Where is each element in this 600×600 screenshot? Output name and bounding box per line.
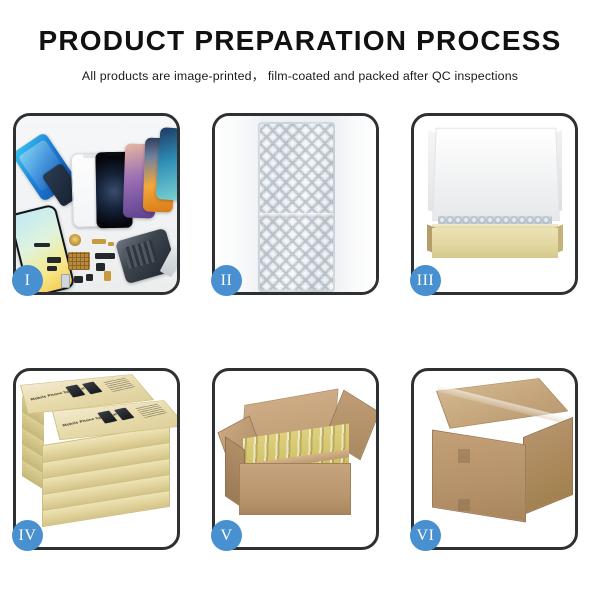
spare-part-flex-cable-2 [108,242,114,246]
page-title: PRODUCT PREPARATION PROCESS [0,26,600,57]
box-print-screen-2 [82,382,103,395]
step-badge-4: IV [12,520,43,551]
step-2-image [215,116,376,292]
box-print-text-block-back [102,377,135,392]
box-print-text-block-front [134,403,167,418]
step-5-image [215,371,376,547]
process-step-1-phones-and-parts: I [13,113,180,295]
spare-part-bracket-2 [47,266,57,271]
spare-part-bracket-1 [47,257,61,263]
step-badge-2: II [211,265,242,296]
step-4-image: Mobile Phone Spare Parts Mobile Phone Sp… [16,371,177,547]
spare-part-sim-tray [61,274,70,288]
spare-part-taptic-engine [86,274,93,281]
sealed-carton-right-face [523,417,573,515]
carton-hand-hole-upper [458,449,470,463]
kraft-box-front-face [432,228,558,258]
carton-front-face [239,463,351,515]
step-badge-1: I [12,265,43,296]
process-step-6-sealed-carton: VI [411,368,578,550]
bubble-wrap-seam [259,213,334,218]
spare-part-screw-tray [68,252,90,270]
process-step-2-bubble-wrap: II [212,113,379,295]
bubble-wrap-sheet-icon [258,122,335,292]
process-step-5-open-carton: V [212,368,379,550]
spare-part-button-flex [96,263,105,271]
spare-part-gold-connector [104,271,111,281]
step-badge-3: III [410,265,441,296]
step-6-image [414,371,575,547]
spare-part-battery-connector [34,243,50,247]
box-print-screen-4 [114,408,135,421]
spare-part-camera-module [95,253,115,259]
sealed-carton-front-face [432,430,526,523]
step-badge-5: V [211,520,242,551]
page-subtitle: All products are image-printed， film-coa… [0,66,600,84]
teal-display-assembly-icon [156,127,177,201]
process-step-grid: I II III [13,113,587,550]
step-3-image [414,116,575,292]
process-step-3-open-kraft-box: III [411,113,578,295]
carton-hand-hole-lower [458,499,470,511]
box-lid-back-panel [432,128,560,221]
spare-part-vibrator [74,276,83,283]
spare-part-speaker-coil [69,234,81,246]
step-1-image [16,116,177,292]
step-badge-6: VI [410,520,441,551]
process-step-4-stacked-boxes: Mobile Phone Spare Parts Mobile Phone Sp… [13,368,180,550]
page-header: PRODUCT PREPARATION PROCESS All products… [0,0,600,84]
spare-part-flex-cable-1 [92,239,106,244]
